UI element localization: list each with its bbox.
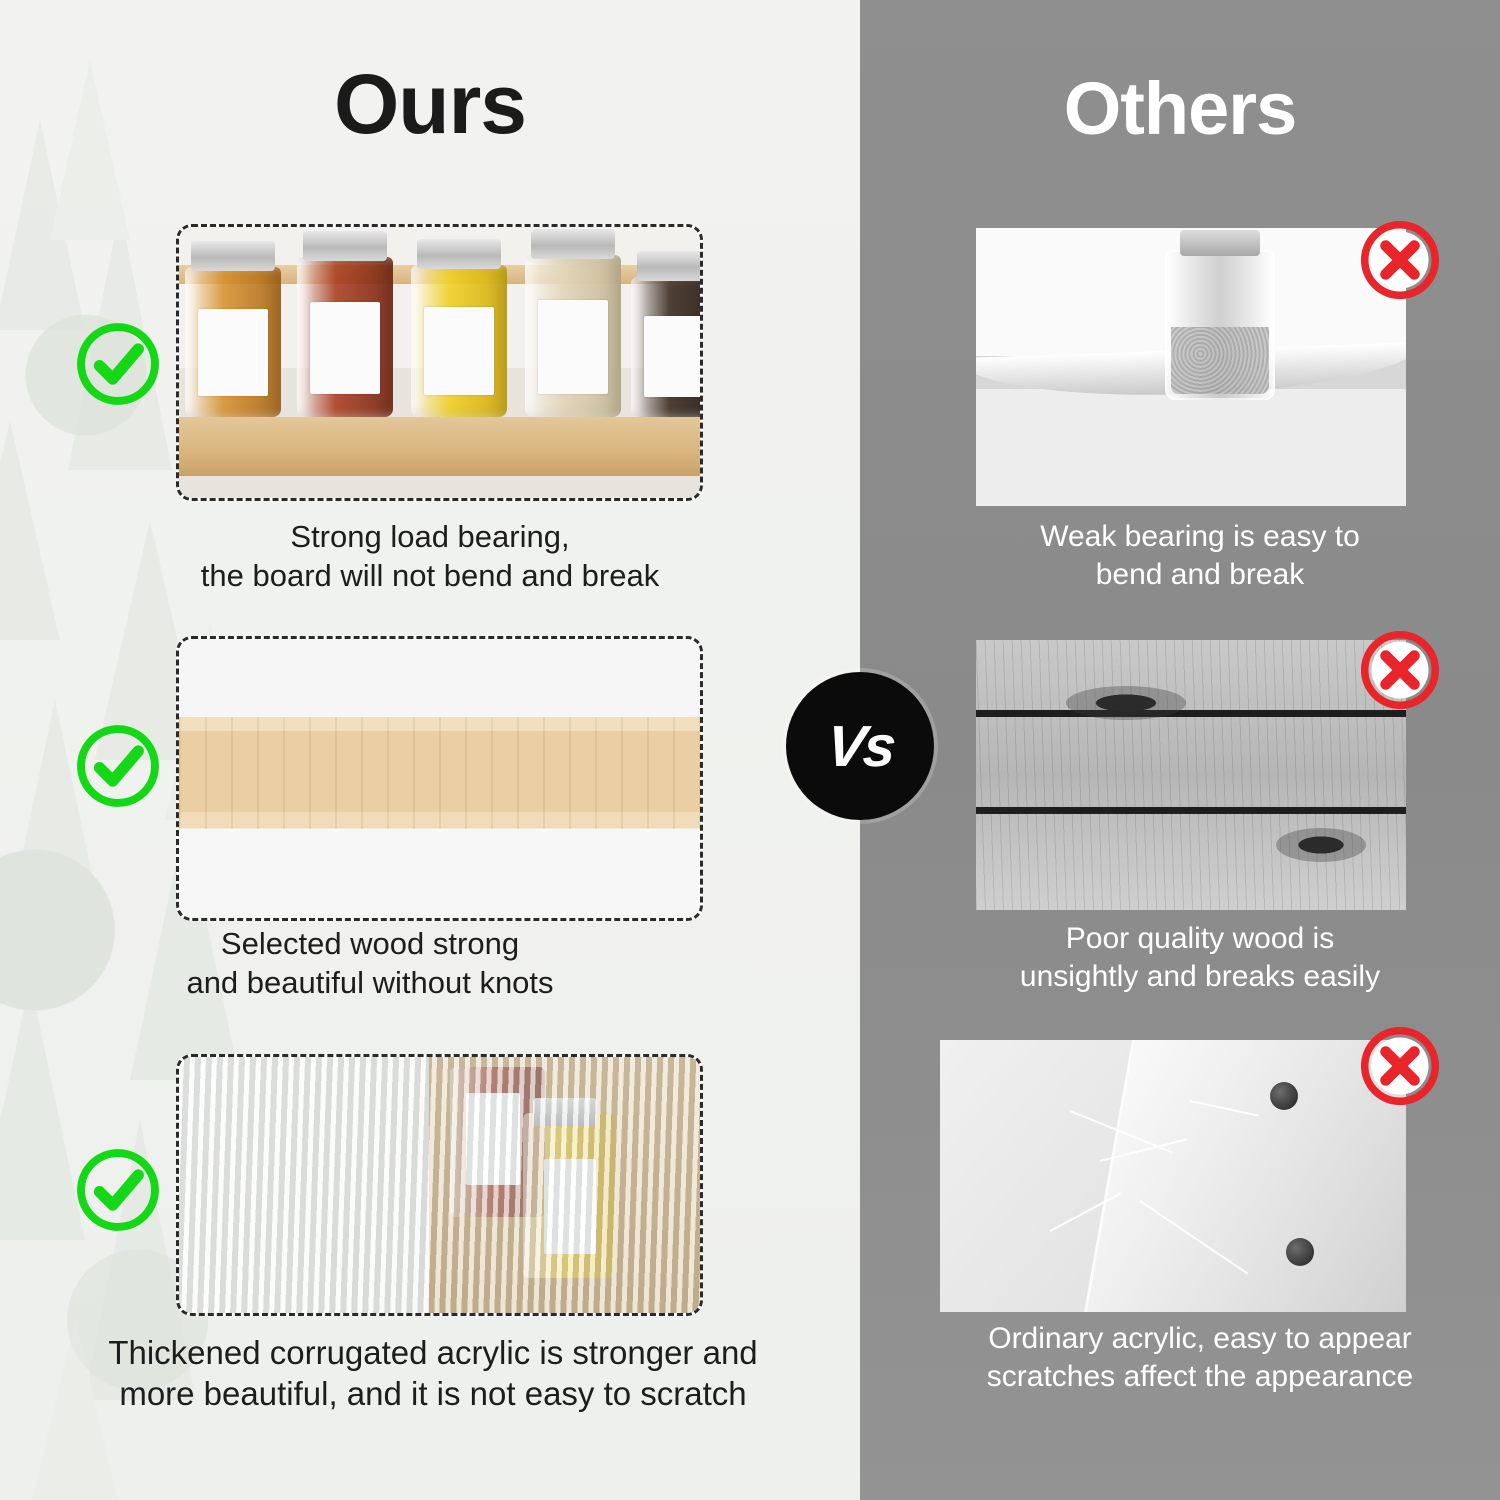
- green-check-icon: [74, 1146, 162, 1234]
- vs-badge-label: Vs: [823, 713, 897, 780]
- ours-caption-2: Selected wood strong and beautiful witho…: [0, 925, 750, 1003]
- ours-image-1: [176, 224, 703, 501]
- ours-caption-1: Strong load bearing, the board will not …: [50, 518, 810, 596]
- others-image-1: [976, 228, 1406, 506]
- page-title-ours: Ours: [0, 62, 860, 146]
- others-caption-3-line1: Ordinary acrylic, easy to appear: [890, 1320, 1500, 1358]
- ours-image-2: [176, 636, 703, 921]
- green-check-icon: [74, 722, 162, 810]
- ours-caption-2-line1: Selected wood strong: [0, 925, 750, 964]
- others-caption-1-line1: Weak bearing is easy to: [900, 518, 1500, 556]
- others-caption-2-line1: Poor quality wood is: [900, 920, 1500, 958]
- others-caption-2-line2: unsightly and breaks easily: [900, 958, 1500, 996]
- others-caption-3-line2: scratches affect the appearance: [890, 1358, 1500, 1396]
- ours-panel: Ours Strong: [0, 0, 860, 1500]
- others-caption-1: Weak bearing is easy to bend and break: [900, 518, 1500, 593]
- red-cross-icon: [1358, 218, 1442, 302]
- green-check-icon: [74, 320, 162, 408]
- others-caption-3: Ordinary acrylic, easy to appear scratch…: [890, 1320, 1500, 1395]
- others-caption-2: Poor quality wood is unsightly and break…: [900, 920, 1500, 995]
- ours-caption-3-line1: Thickened corrugated acrylic is stronger…: [38, 1332, 828, 1373]
- page-title-others: Others: [860, 72, 1500, 146]
- ours-caption-1-line1: Strong load bearing,: [50, 518, 810, 557]
- others-caption-1-line2: bend and break: [900, 556, 1500, 594]
- others-image-2: [976, 640, 1406, 910]
- ours-caption-2-line2: and beautiful without knots: [0, 964, 750, 1003]
- ours-caption-3-line2: more beautiful, and it is not easy to sc…: [38, 1373, 828, 1414]
- red-cross-icon: [1358, 1024, 1442, 1108]
- ours-image-3: [176, 1054, 703, 1316]
- others-image-3: [940, 1040, 1406, 1312]
- vs-badge: Vs: [786, 672, 934, 820]
- comparison-infographic: Ours Strong: [0, 0, 1500, 1500]
- ours-caption-1-line2: the board will not bend and break: [50, 557, 810, 596]
- red-cross-icon: [1358, 628, 1442, 712]
- ours-caption-3: Thickened corrugated acrylic is stronger…: [38, 1332, 828, 1415]
